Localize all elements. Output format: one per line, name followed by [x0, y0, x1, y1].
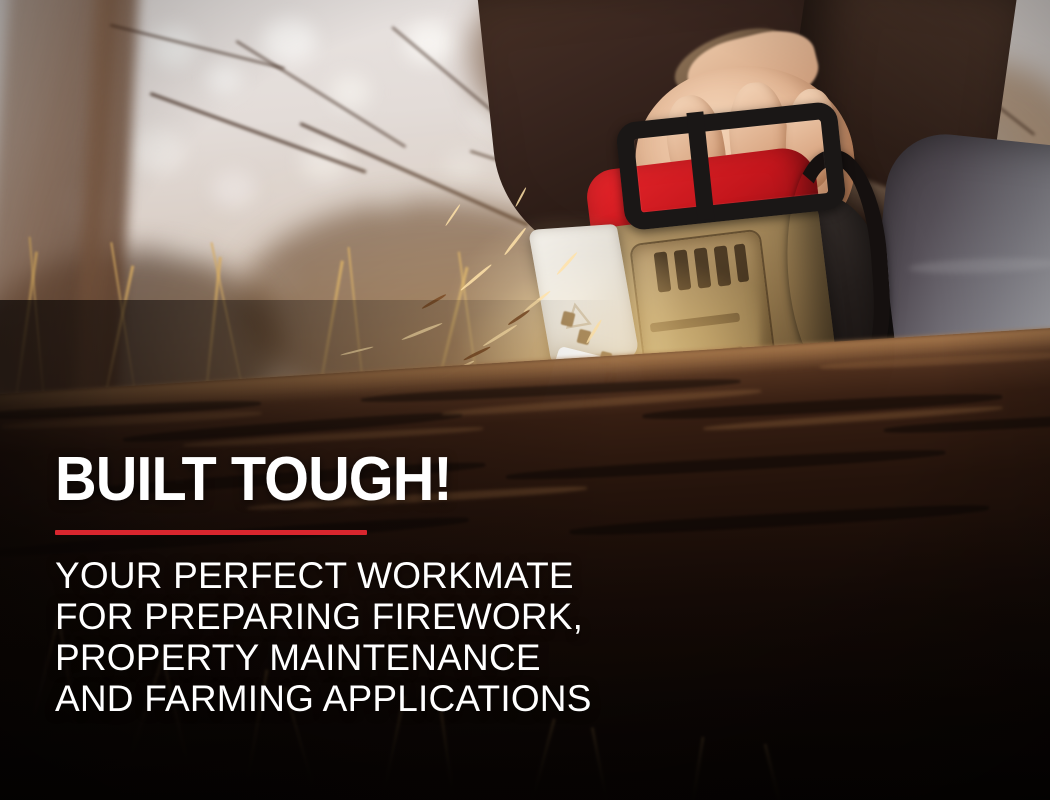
subtitle-line: FOR PREPARING FIREWORK, — [55, 596, 675, 637]
subtitle-line: PROPERTY MAINTENANCE — [55, 637, 675, 678]
headline: BUILT TOUGH! — [55, 450, 632, 510]
subtitle-line: YOUR PERFECT WORKMATE — [55, 555, 675, 596]
copy-block: BUILT TOUGH! YOUR PERFECT WORKMATE FOR P… — [55, 450, 675, 719]
hero-banner: Baumr-AGPRO 20" — [0, 0, 1050, 800]
red-divider — [55, 530, 367, 535]
subtitle: YOUR PERFECT WORKMATE FOR PREPARING FIRE… — [55, 555, 675, 719]
subtitle-line: AND FARMING APPLICATIONS — [55, 678, 675, 719]
saw-top-handle[interactable] — [615, 101, 847, 232]
